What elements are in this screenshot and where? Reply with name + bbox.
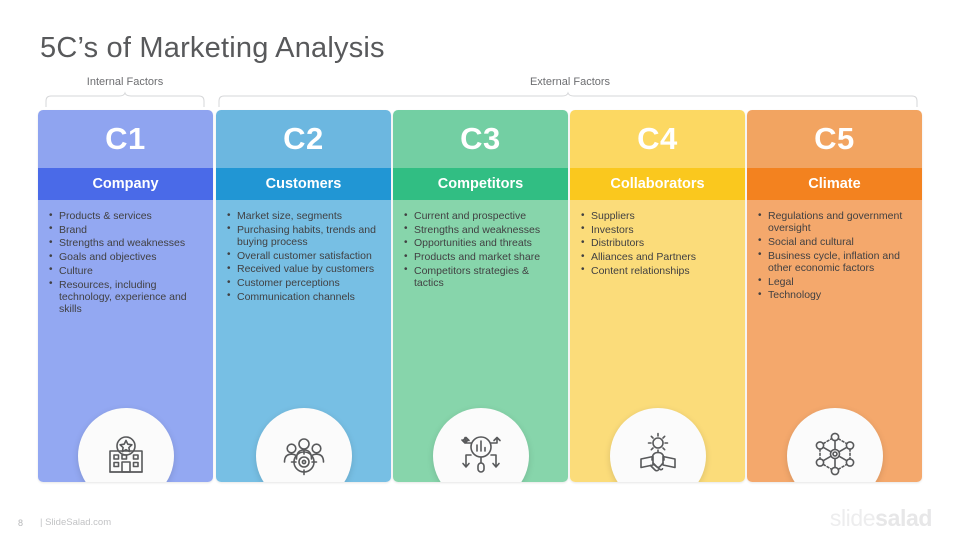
- list-item: Alliances and Partners: [581, 251, 736, 263]
- column-c4-code: C4: [570, 110, 745, 168]
- list-item: Purchasing habits, trends and buying pro…: [227, 224, 382, 248]
- list-item: Suppliers: [581, 210, 736, 222]
- page-title: 5C’s of Marketing Analysis: [40, 32, 385, 65]
- column-c2-name: Customers: [216, 168, 391, 200]
- list-item: Products & services: [49, 210, 204, 222]
- column-c3-body: Current and prospective Strengths and we…: [393, 200, 568, 482]
- footer-page-number: 8: [18, 518, 23, 528]
- list-item: Brand: [49, 224, 204, 236]
- list-item: Resources, including technology, experie…: [49, 279, 204, 316]
- column-c1-name: Company: [38, 168, 213, 200]
- list-item: Business cycle, inflation and other econ…: [758, 250, 913, 274]
- column-c4[interactable]: C4 Collaborators Suppliers Investors Dis…: [570, 110, 745, 482]
- columns-container: C1 Company Products & services Brand Str…: [0, 110, 960, 485]
- column-c5[interactable]: C5 Climate Regulations and government ov…: [747, 110, 922, 482]
- column-c5-bullet-list: Regulations and government oversight Soc…: [758, 210, 913, 301]
- group-label-external: External Factors: [340, 76, 800, 88]
- column-c2-icon-bubble: [256, 408, 352, 482]
- list-item: Culture: [49, 265, 204, 277]
- list-item: Technology: [758, 289, 913, 301]
- list-item: Current and prospective: [404, 210, 559, 222]
- list-item: Strengths and weaknesses: [49, 237, 204, 249]
- list-item: Distributors: [581, 237, 736, 249]
- column-c5-code: C5: [747, 110, 922, 168]
- column-c1-icon-bubble: [78, 408, 174, 482]
- list-item: Content relationships: [581, 265, 736, 277]
- column-c2[interactable]: C2 Customers Market size, segments Purch…: [216, 110, 391, 482]
- list-item: Legal: [758, 276, 913, 288]
- list-item: Communication channels: [227, 291, 382, 303]
- column-c1-body: Products & services Brand Strengths and …: [38, 200, 213, 482]
- slide-canvas: 5C’s of Marketing Analysis Internal Fact…: [0, 0, 960, 540]
- column-c2-code: C2: [216, 110, 391, 168]
- column-c4-name: Collaborators: [570, 168, 745, 200]
- list-item: Market size, segments: [227, 210, 382, 222]
- brand-light-text: slide: [830, 505, 875, 531]
- footer-site-label: | SlideSalad.com: [40, 517, 111, 528]
- list-item: Strengths and weaknesses: [404, 224, 559, 236]
- column-c4-icon-bubble: [610, 408, 706, 482]
- column-c5-name: Climate: [747, 168, 922, 200]
- market-analysis-magnifier-icon: [456, 429, 506, 483]
- column-c3-bullet-list: Current and prospective Strengths and we…: [404, 210, 559, 289]
- list-item: Opportunities and threats: [404, 237, 559, 249]
- brand-bold-text: salad: [875, 505, 932, 531]
- list-item: Investors: [581, 224, 736, 236]
- column-c3-icon-bubble: [433, 408, 529, 482]
- column-c2-bullet-list: Market size, segments Purchasing habits,…: [227, 210, 382, 303]
- column-c4-bullet-list: Suppliers Investors Distributors Allianc…: [581, 210, 736, 277]
- list-item: Customer perceptions: [227, 277, 382, 289]
- list-item: Products and market share: [404, 251, 559, 263]
- network-hub-icon: [810, 429, 860, 483]
- column-c1[interactable]: C1 Company Products & services Brand Str…: [38, 110, 213, 482]
- list-item: Social and cultural: [758, 236, 913, 248]
- column-c2-body: Market size, segments Purchasing habits,…: [216, 200, 391, 482]
- list-item: Overall customer satisfaction: [227, 250, 382, 262]
- group-label-internal: Internal Factors: [45, 76, 205, 88]
- list-item: Goals and objectives: [49, 251, 204, 263]
- column-c5-icon-bubble: [787, 408, 883, 482]
- column-c1-bullet-list: Products & services Brand Strengths and …: [49, 210, 204, 315]
- column-c3-name: Competitors: [393, 168, 568, 200]
- column-c5-body: Regulations and government oversight Soc…: [747, 200, 922, 482]
- slidesalad-logo: slidesalad: [830, 505, 932, 532]
- bracket-external: [218, 93, 918, 107]
- handshake-gear-icon: [633, 429, 683, 483]
- list-item: Competitors strategies & tactics: [404, 265, 559, 289]
- target-audience-icon: [279, 429, 329, 483]
- column-c4-body: Suppliers Investors Distributors Allianc…: [570, 200, 745, 482]
- office-building-star-icon: [101, 429, 151, 483]
- list-item: Regulations and government oversight: [758, 210, 913, 234]
- column-c1-code: C1: [38, 110, 213, 168]
- column-c3[interactable]: C3 Competitors Current and prospective S…: [393, 110, 568, 482]
- list-item: Received value by customers: [227, 263, 382, 275]
- bracket-internal: [45, 93, 205, 107]
- column-c3-code: C3: [393, 110, 568, 168]
